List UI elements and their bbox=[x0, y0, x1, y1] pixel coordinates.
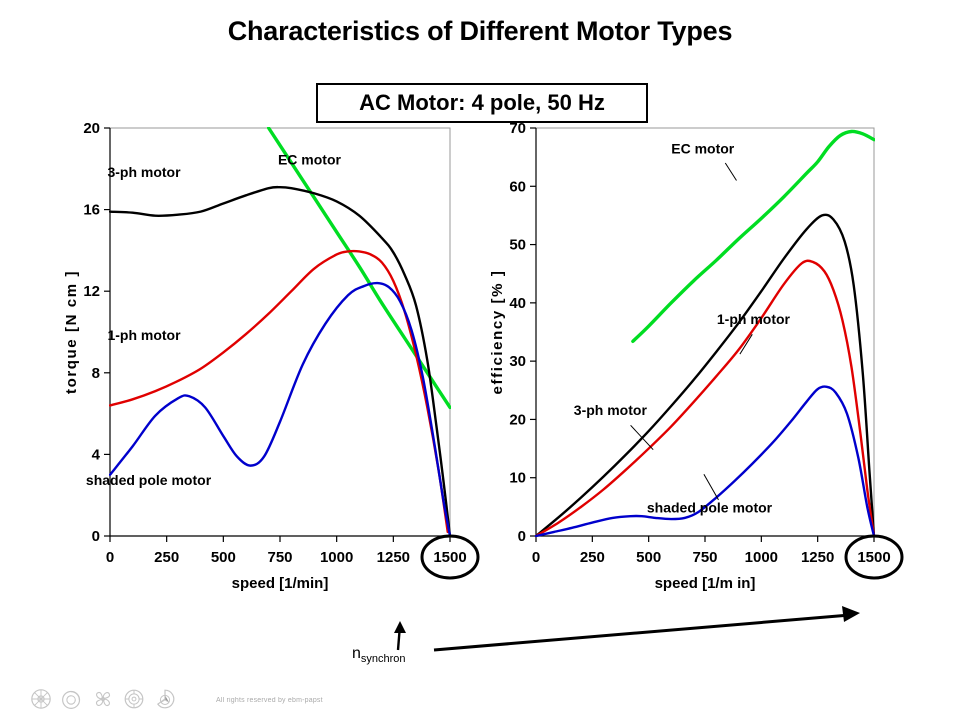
x-tick-label: 250 bbox=[580, 549, 605, 566]
y-tick-label: 10 bbox=[509, 470, 526, 487]
x-tick-label: 1000 bbox=[320, 549, 353, 566]
nsynchron-subscript: synchron bbox=[361, 653, 406, 665]
series-label-1-ph-motor: 1-ph motor bbox=[717, 311, 791, 327]
x-tick-label: 1250 bbox=[377, 549, 410, 566]
x-tick-label: 750 bbox=[267, 549, 292, 566]
slide-canvas: Characteristics of Different Motor Types… bbox=[0, 0, 960, 720]
curve-1-ph-motor bbox=[110, 251, 448, 532]
series-label-3-ph-motor: 3-ph motor bbox=[107, 164, 181, 180]
series-label-shaded-pole-motor: shaded pole motor bbox=[86, 472, 212, 488]
x-tick-label: 1500 bbox=[857, 549, 890, 566]
series-label-3-ph-motor: 3-ph motor bbox=[574, 402, 648, 418]
x-tick-label: 750 bbox=[692, 549, 717, 566]
y-tick-label: 0 bbox=[518, 528, 526, 545]
y-tick-label: 0 bbox=[92, 528, 100, 545]
x-tick-label: 1500 bbox=[433, 549, 466, 566]
plot-axes bbox=[536, 128, 874, 536]
x-tick-label: 1000 bbox=[745, 549, 778, 566]
y-tick-label: 60 bbox=[509, 178, 526, 195]
compass-fan-icon bbox=[30, 688, 52, 710]
y-tick-label: 70 bbox=[509, 120, 526, 137]
y-tick-label: 20 bbox=[509, 411, 526, 428]
x-tick-label: 250 bbox=[154, 549, 179, 566]
copyright-text: All rights reserved by ebm-papst bbox=[216, 697, 323, 704]
series-label-1-ph-motor: 1-ph motor bbox=[107, 327, 181, 343]
y-axis-label: efficiency [% ] bbox=[489, 270, 506, 395]
curve-3-ph-motor bbox=[536, 215, 874, 536]
leader-line bbox=[704, 474, 719, 500]
y-tick-label: 40 bbox=[509, 295, 526, 312]
curve-1-ph-motor bbox=[536, 261, 874, 536]
y-tick-label: 4 bbox=[92, 446, 101, 463]
curve-ec-motor bbox=[269, 128, 450, 407]
efficiency-chart-svg: 0102030405060700250500750100012501500spe… bbox=[482, 120, 902, 620]
centrifugal-fan-icon bbox=[154, 688, 176, 710]
nsynchron-base: n bbox=[352, 645, 361, 662]
x-axis-label: speed [1/min] bbox=[232, 575, 329, 592]
y-tick-label: 12 bbox=[83, 283, 100, 300]
x-tick-label: 500 bbox=[636, 549, 661, 566]
x-tick-label: 1250 bbox=[801, 549, 834, 566]
y-tick-label: 8 bbox=[92, 365, 100, 382]
x-tick-label: 0 bbox=[532, 549, 540, 566]
subtitle-text: AC Motor: 4 pole, 50 Hz bbox=[359, 90, 605, 116]
footer-logo-group bbox=[30, 688, 176, 710]
series-label-ec-motor: EC motor bbox=[671, 141, 735, 157]
x-tick-label: 500 bbox=[211, 549, 236, 566]
nsynchron-callout bbox=[330, 595, 890, 675]
efficiency-chart: 0102030405060700250500750100012501500spe… bbox=[482, 120, 902, 620]
y-tick-label: 30 bbox=[509, 353, 526, 370]
nsynchron-label: nsynchron bbox=[352, 645, 406, 665]
y-tick-label: 50 bbox=[509, 237, 526, 254]
y-tick-label: 20 bbox=[83, 120, 100, 137]
subtitle-box: AC Motor: 4 pole, 50 Hz bbox=[316, 83, 648, 123]
axial-fan-icon bbox=[92, 688, 114, 710]
plot-frame bbox=[536, 128, 874, 536]
torque-chart-svg: 0481216200250500750100012501500speed [1/… bbox=[58, 120, 458, 620]
torque-chart: 0481216200250500750100012501500speed [1/… bbox=[58, 120, 458, 620]
page-title: Characteristics of Different Motor Types bbox=[0, 16, 960, 47]
x-axis-label: speed [1/m in] bbox=[655, 575, 756, 592]
x-tick-label: 0 bbox=[106, 549, 114, 566]
ring-fan-icon bbox=[123, 688, 145, 710]
y-tick-label: 16 bbox=[83, 202, 100, 219]
y-axis-label: torque [N cm ] bbox=[63, 270, 80, 394]
curve-shaded-pole-motor bbox=[110, 283, 450, 536]
series-label-shaded-pole-motor: shaded pole motor bbox=[647, 500, 773, 516]
blower-icon bbox=[61, 688, 83, 710]
leader-line bbox=[725, 163, 736, 181]
series-label-ec-motor: EC motor bbox=[278, 152, 342, 168]
